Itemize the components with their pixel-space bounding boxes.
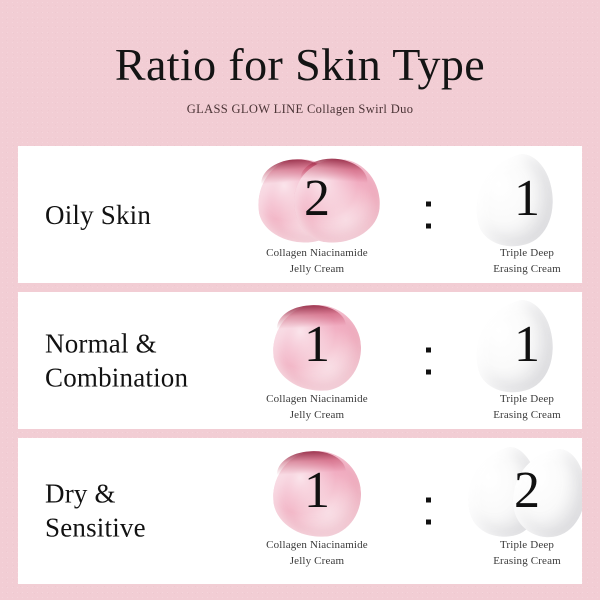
ratio-side-jelly: 1 Collagen Niacinamide Jelly Cream bbox=[242, 302, 392, 424]
page-title: Ratio for Skin Type bbox=[0, 42, 600, 88]
ratio-separator bbox=[423, 201, 433, 228]
page-subtitle: GLASS GLOW LINE Collagen Swirl Duo bbox=[0, 102, 600, 117]
jelly-swatch: 2 bbox=[242, 156, 392, 244]
skin-type-label: Oily Skin bbox=[45, 197, 151, 231]
product-caption: Collagen Niacinamide Jelly Cream bbox=[242, 538, 392, 570]
ratio-value: 1 bbox=[242, 465, 392, 517]
ratio-group: 1 Collagen Niacinamide Jelly Cream 1 Tri… bbox=[230, 292, 582, 429]
ratio-value: 2 bbox=[452, 465, 582, 517]
product-caption: Collagen Niacinamide Jelly Cream bbox=[242, 246, 392, 278]
ratio-value: 1 bbox=[242, 319, 392, 371]
header: Ratio for Skin Type GLASS GLOW LINE Coll… bbox=[0, 0, 600, 117]
table-row: Oily Skin 2 Collagen Niacinamide Jelly C… bbox=[18, 146, 582, 283]
ratio-side-jelly: 2 Collagen Niacinamide Jelly Cream bbox=[242, 156, 392, 278]
product-caption: Collagen Niacinamide Jelly Cream bbox=[242, 392, 392, 424]
ratio-group: 1 Collagen Niacinamide Jelly Cream 2 Tri… bbox=[230, 438, 582, 584]
colon-dot-top bbox=[426, 201, 431, 206]
colon-dot-bottom bbox=[426, 369, 431, 374]
cream-swatch: 2 bbox=[452, 448, 582, 536]
colon-dot-top bbox=[426, 347, 431, 352]
ratio-side-cream: 1 Triple Deep Erasing Cream bbox=[452, 302, 582, 424]
ratio-side-cream: 2 Triple Deep Erasing Cream bbox=[452, 448, 582, 570]
product-caption: Triple Deep Erasing Cream bbox=[452, 246, 582, 278]
colon-dot-top bbox=[426, 498, 431, 503]
ratio-side-jelly: 1 Collagen Niacinamide Jelly Cream bbox=[242, 448, 392, 570]
ratio-group: 2 Collagen Niacinamide Jelly Cream 1 Tri… bbox=[230, 146, 582, 283]
ratio-value: 1 bbox=[452, 319, 582, 371]
table-row: Dry & Sensitive 1 Collagen Niacinamide J… bbox=[18, 438, 582, 584]
jelly-swatch: 1 bbox=[242, 448, 392, 536]
ratio-separator bbox=[423, 498, 433, 525]
colon-dot-bottom bbox=[426, 223, 431, 228]
ratio-value: 1 bbox=[452, 173, 582, 225]
table-row: Normal & Combination 1 Collagen Niacinam… bbox=[18, 292, 582, 429]
cream-swatch: 1 bbox=[452, 156, 582, 244]
skin-type-label: Dry & Sensitive bbox=[45, 477, 146, 546]
colon-dot-bottom bbox=[426, 520, 431, 525]
cream-swatch: 1 bbox=[452, 302, 582, 390]
ratio-card-list: Oily Skin 2 Collagen Niacinamide Jelly C… bbox=[18, 146, 582, 584]
ratio-separator bbox=[423, 347, 433, 374]
ratio-value: 2 bbox=[242, 173, 392, 225]
jelly-swatch: 1 bbox=[242, 302, 392, 390]
skin-type-label: Normal & Combination bbox=[45, 326, 188, 395]
ratio-side-cream: 1 Triple Deep Erasing Cream bbox=[452, 156, 582, 278]
product-caption: Triple Deep Erasing Cream bbox=[452, 392, 582, 424]
product-caption: Triple Deep Erasing Cream bbox=[452, 538, 582, 570]
